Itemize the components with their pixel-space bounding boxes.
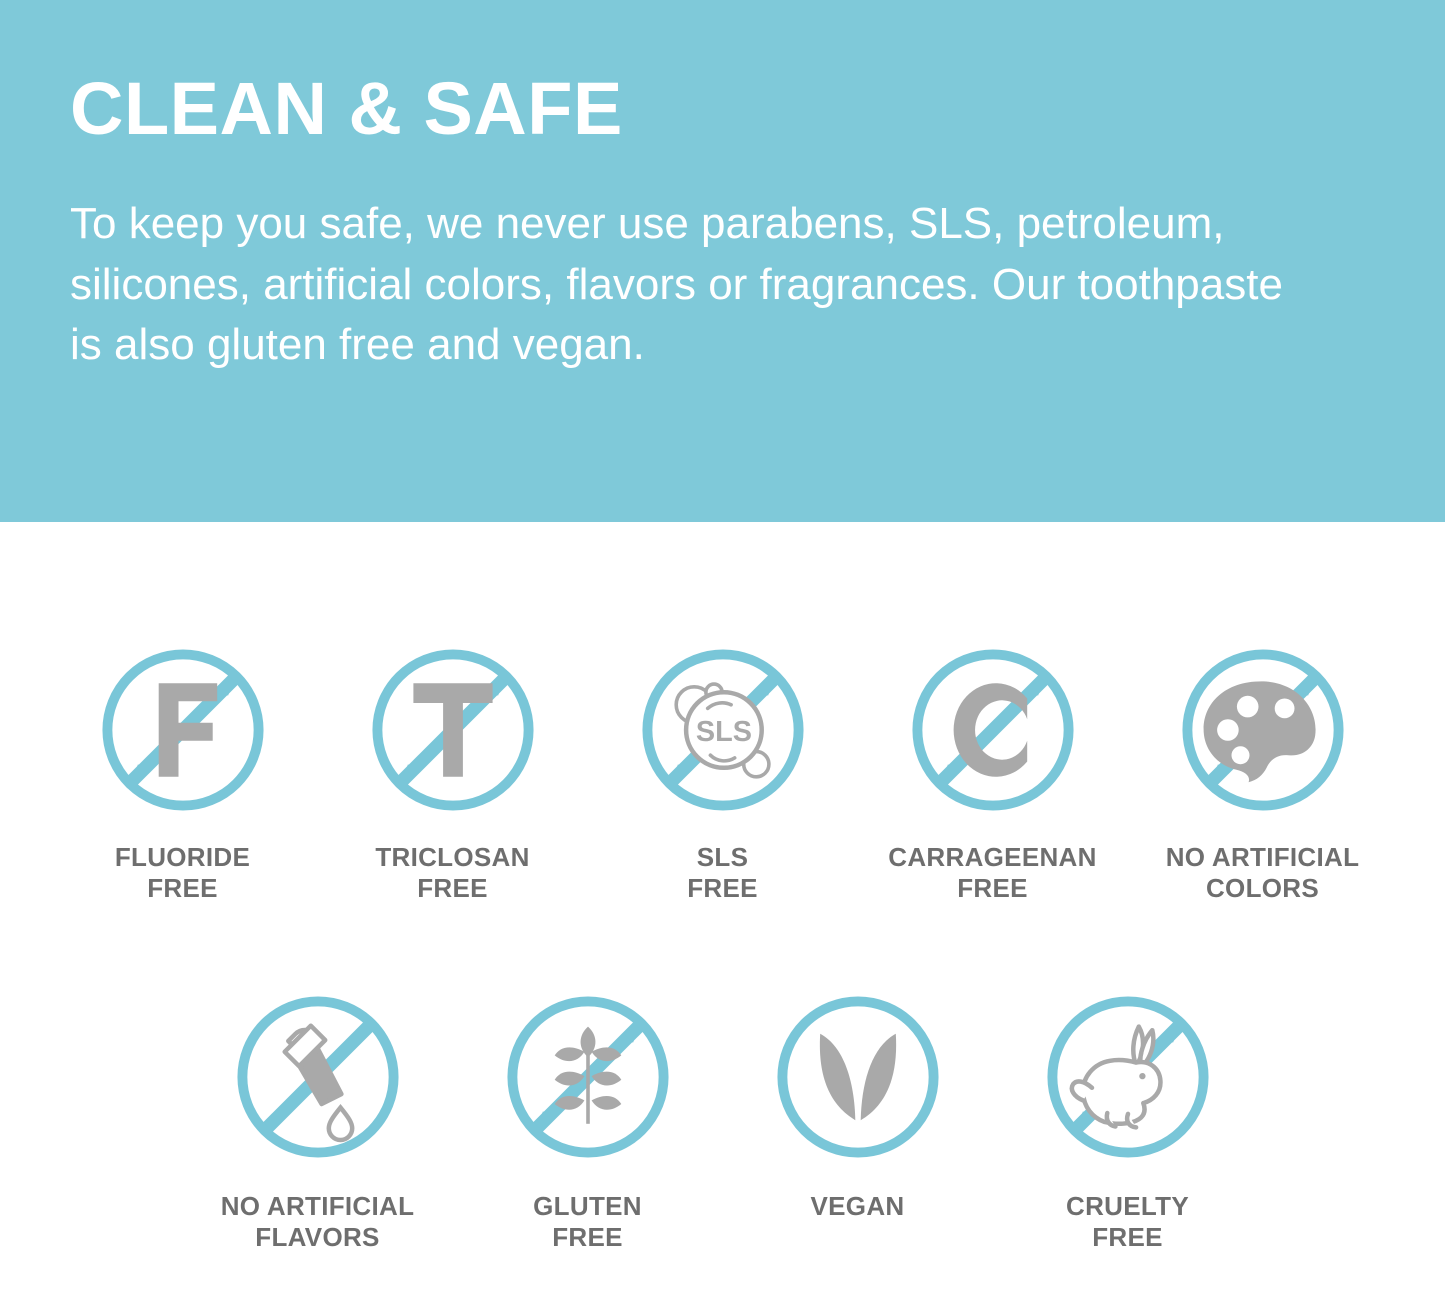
page-title: CLEAN & SAFE	[70, 72, 1375, 146]
badge-label: FLUORIDE FREE	[115, 842, 250, 903]
badge-label: VEGAN	[811, 1191, 905, 1222]
letter-f-no-symbol-icon	[93, 640, 273, 820]
badge-gluten-free: GLUTEN FREE	[453, 987, 723, 1252]
badge-triclosan-free: TRICLOSAN FREE	[318, 640, 588, 903]
badge-label: TRICLOSAN FREE	[375, 842, 529, 903]
certification-badge-grid: FLUORIDE FREE TRICLOSAN FREE	[0, 522, 1445, 1253]
badge-no-artificial-colors: NO ARTIFICIAL COLORS	[1128, 640, 1398, 903]
dropper-pipette-no-symbol-icon	[228, 987, 408, 1167]
badge-label: CRUELTY FREE	[1066, 1191, 1189, 1252]
badge-fluoride-free: FLUORIDE FREE	[48, 640, 318, 903]
badge-no-artificial-flavors: NO ARTIFICIAL FLAVORS	[183, 987, 453, 1252]
badge-row-1: FLUORIDE FREE TRICLOSAN FREE	[0, 522, 1445, 903]
badge-label: NO ARTIFICIAL FLAVORS	[221, 1191, 415, 1252]
badge-vegan: VEGAN	[723, 987, 993, 1222]
hero-description: To keep you safe, we never use parabens,…	[70, 194, 1315, 376]
svg-text:SLS: SLS	[695, 716, 751, 748]
paint-palette-no-symbol-icon	[1173, 640, 1353, 820]
hero-banner: CLEAN & SAFE To keep you safe, we never …	[0, 0, 1445, 522]
leaves-vegan-icon	[768, 987, 948, 1167]
badge-cruelty-free: CRUELTY FREE	[993, 987, 1263, 1252]
letter-t-no-symbol-icon	[363, 640, 543, 820]
badge-sls-free: SLS SLS FREE	[588, 640, 858, 903]
wheat-stalk-no-symbol-icon	[498, 987, 678, 1167]
badge-label: GLUTEN FREE	[533, 1191, 642, 1252]
badge-row-2: NO ARTIFICIAL FLAVORS GLUTEN FREE	[0, 903, 1445, 1252]
badge-label: NO ARTIFICIAL COLORS	[1166, 842, 1360, 903]
badge-label: SLS FREE	[687, 842, 758, 903]
sls-bubble-no-symbol-icon: SLS	[633, 640, 813, 820]
letter-c-no-symbol-icon	[903, 640, 1083, 820]
rabbit-no-symbol-icon	[1038, 987, 1218, 1167]
badge-carrageenan-free: CARRAGEENAN FREE	[858, 640, 1128, 903]
badge-label: CARRAGEENAN FREE	[888, 842, 1096, 903]
